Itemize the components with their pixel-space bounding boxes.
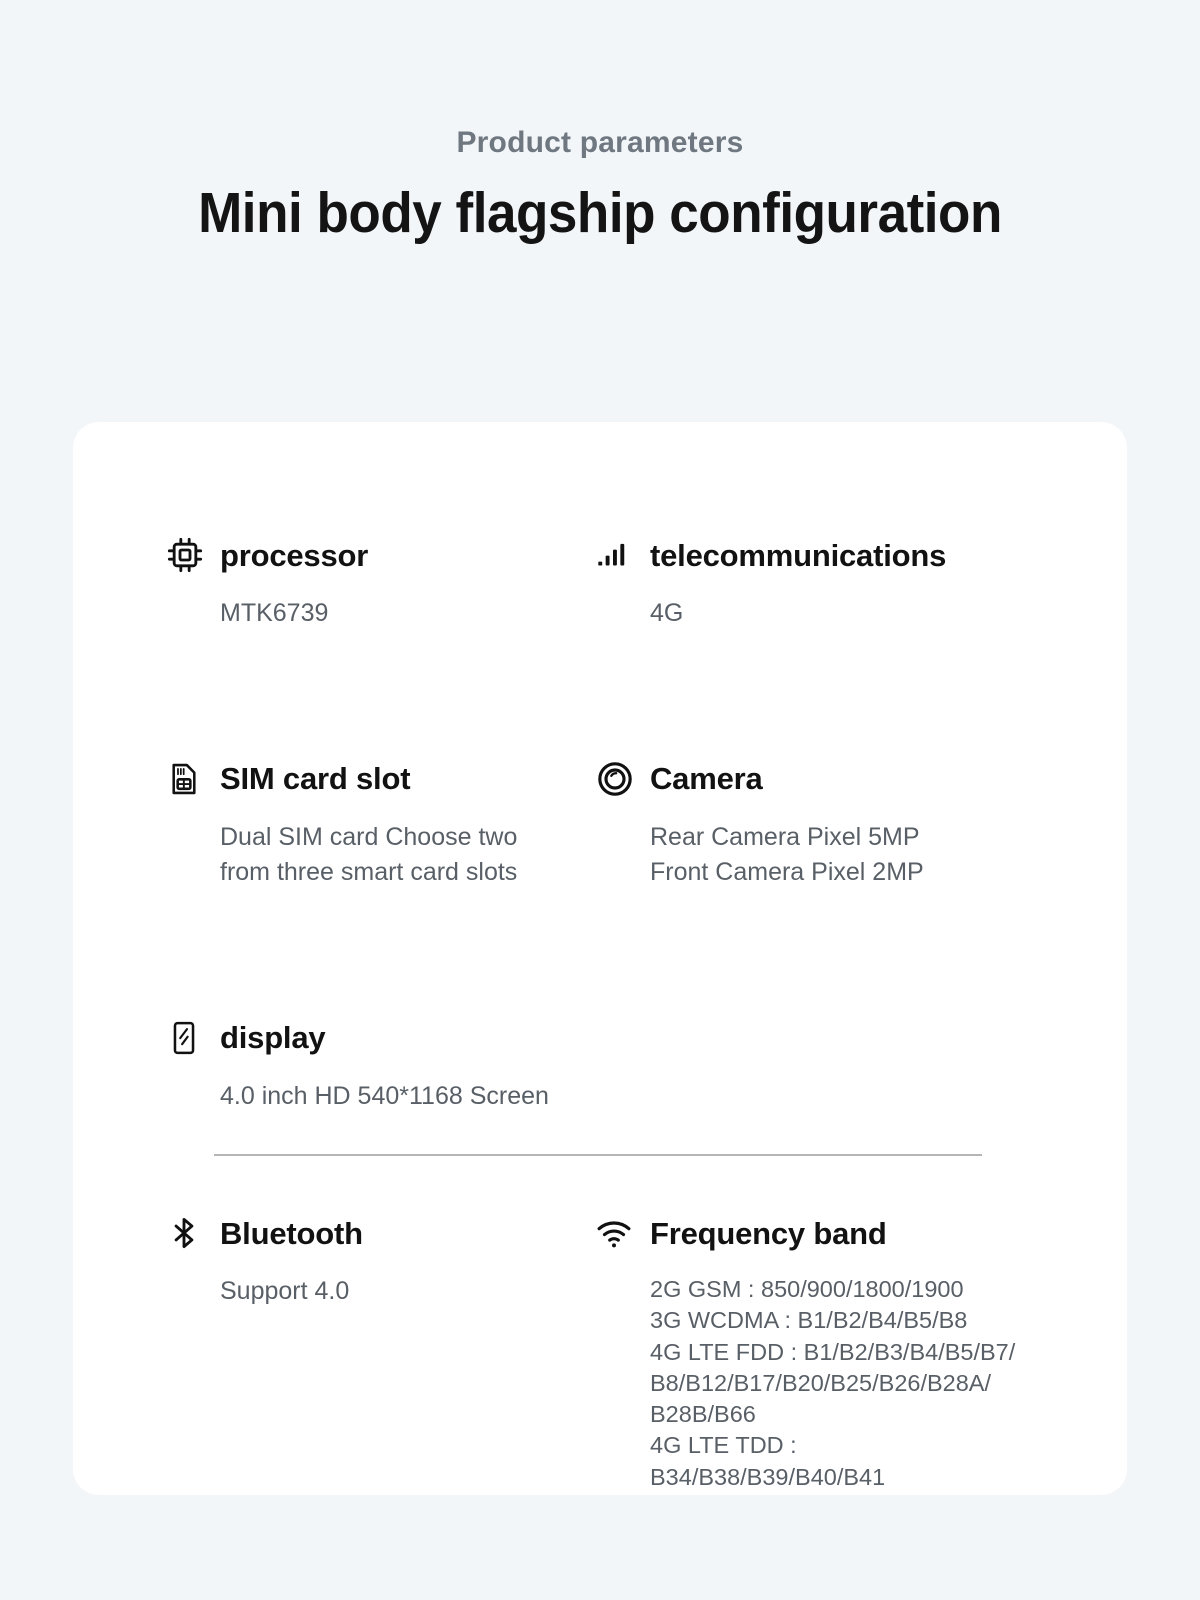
spec-body: Dual SIM card Choose two from three smar… (220, 820, 595, 891)
spec-header: Camera (595, 756, 1025, 802)
eyebrow-label: Product parameters (0, 128, 1200, 158)
page-header: Product parameters Mini body flagship co… (0, 0, 1200, 244)
bluetooth-icon (165, 1214, 211, 1252)
wifi-icon (595, 1214, 641, 1252)
spec-body: MTK6739 (220, 596, 595, 632)
spec-header: processor (165, 532, 595, 578)
spec-item-bluetooth: Bluetooth Support 4.0 (165, 1210, 595, 1493)
spec-title: processor (220, 540, 368, 571)
spec-title: Bluetooth (220, 1218, 363, 1249)
spec-item-sim-card-slot: SIM card slot Dual SIM card Choose two f… (165, 756, 595, 891)
spec-item-processor: processor MTK6739 (165, 532, 595, 632)
spec-body: Rear Camera Pixel 5MP Front Camera Pixel… (650, 820, 1025, 891)
row-spacer (165, 891, 1065, 1015)
spec-card: processor MTK6739 (73, 422, 1127, 1495)
spec-item-display: display 4.0 inch HD 540*1168 Screen (165, 1015, 1025, 1115)
display-screen-icon (165, 1019, 211, 1057)
product-parameters-page: Product parameters Mini body flagship co… (0, 0, 1200, 1600)
spec-header: telecommunications (595, 532, 1025, 578)
spec-header: SIM card slot (165, 756, 595, 802)
spec-title: Camera (650, 763, 763, 794)
spec-title: telecommunications (650, 540, 946, 571)
spec-title: SIM card slot (220, 763, 410, 794)
spec-item-telecommunications: telecommunications 4G (595, 532, 1025, 632)
signal-bars-icon (595, 537, 641, 573)
row-spacer (165, 632, 1065, 756)
page-title: Mini body flagship configuration (42, 184, 1158, 244)
spec-header: display (165, 1015, 1025, 1061)
row-spacer (165, 1156, 1065, 1210)
spec-row-1: processor MTK6739 (165, 532, 1065, 632)
sim-card-icon (165, 760, 211, 798)
spec-grid: processor MTK6739 (165, 532, 1065, 1493)
spec-title: display (220, 1022, 325, 1053)
spec-header: Frequency band (595, 1210, 1025, 1256)
spec-header: Bluetooth (165, 1210, 595, 1256)
spec-row-4: Bluetooth Support 4.0 (165, 1210, 1065, 1493)
spec-title: Frequency band (650, 1218, 887, 1249)
spec-body: 4.0 inch HD 540*1168 Screen (220, 1079, 1025, 1115)
spec-row-2: SIM card slot Dual SIM card Choose two f… (165, 756, 1065, 891)
spec-body: Support 4.0 (220, 1274, 595, 1310)
camera-lens-icon (595, 759, 641, 799)
spec-body: 2G GSM : 850/900/1800/1900 3G WCDMA : B1… (650, 1274, 1025, 1493)
cpu-chip-icon (165, 535, 211, 575)
spec-item-frequency-band: Frequency band 2G GSM : 850/900/1800/190… (595, 1210, 1025, 1493)
spec-body: 4G (650, 596, 1025, 632)
spec-row-3: display 4.0 inch HD 540*1168 Screen (165, 1015, 1065, 1115)
spec-item-camera: Camera Rear Camera Pixel 5MP Front Camer… (595, 756, 1025, 891)
